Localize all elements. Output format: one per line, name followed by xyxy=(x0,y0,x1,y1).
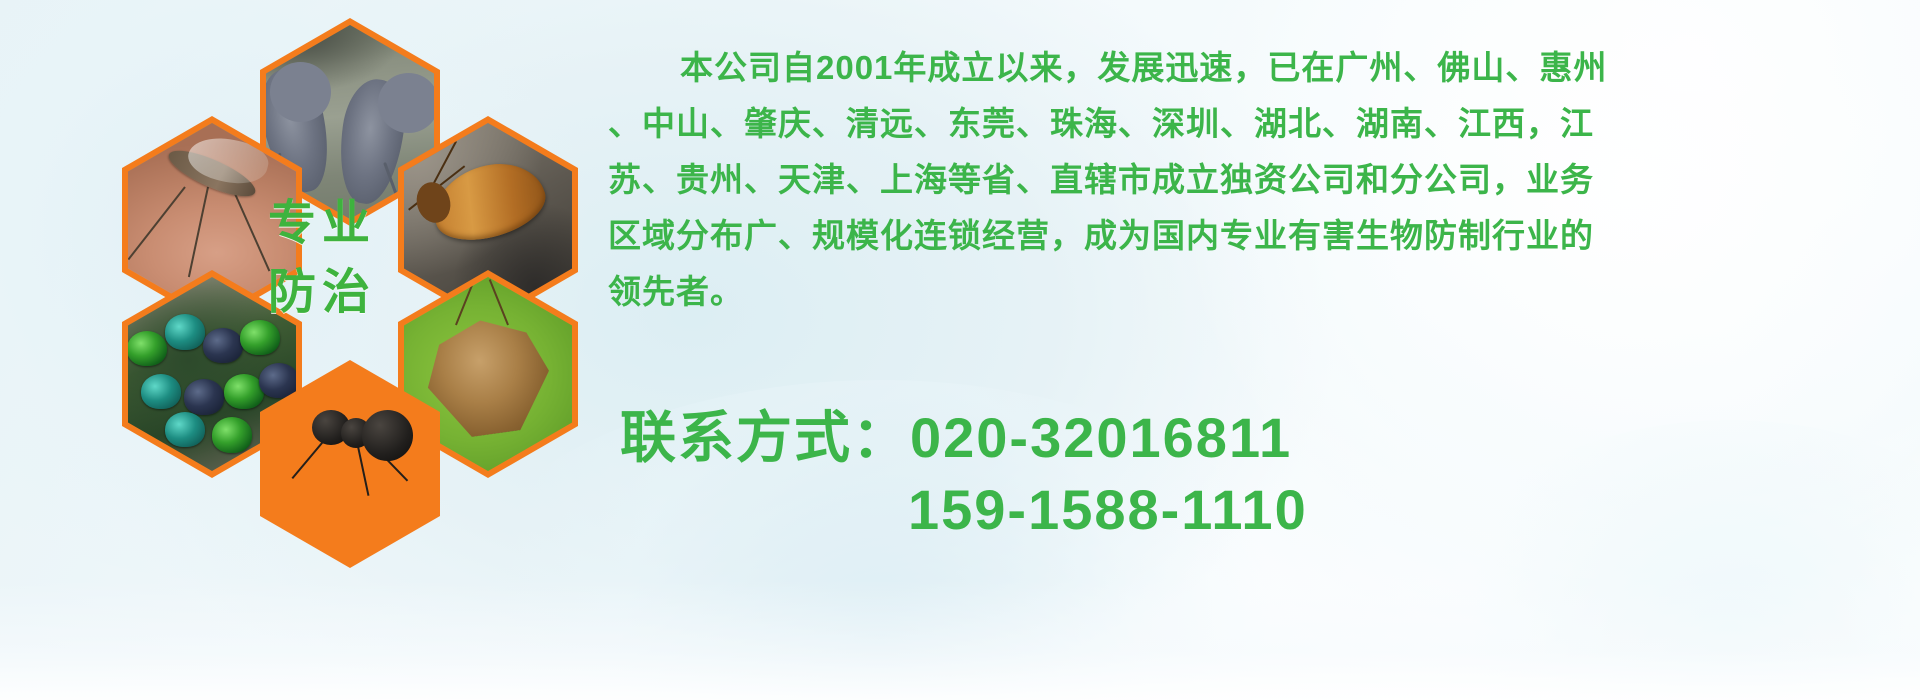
hex-photo-ant xyxy=(260,360,440,568)
description-line-4: 区域分布广、规模化连锁经营，成为国内专业有害生物防制行业的 xyxy=(608,208,1908,264)
badge-line-2: 防治 xyxy=(252,265,392,322)
contact-label: 联系方式： xyxy=(620,406,910,469)
contact-phone-2[interactable]: 159-1588-1110 xyxy=(908,478,1308,541)
contact-secondary-line: 159-1588-1110 xyxy=(620,474,1900,546)
description-line-3: 苏、贵州、天津、上海等省、直辖市成立独资公司和分公司，业务 xyxy=(608,152,1908,208)
description-line-5: 领先者。 xyxy=(608,264,1908,320)
bottom-fade-overlay xyxy=(0,580,1920,700)
company-description: 本公司自2001年成立以来，发展迅速，已在广州、佛山、惠州 、中山、肇庆、清远、… xyxy=(608,40,1908,320)
description-line-1: 本公司自2001年成立以来，发展迅速，已在广州、佛山、惠州 xyxy=(608,40,1908,96)
contact-block: 联系方式：020-32016811 159-1588-1110 xyxy=(620,402,1900,546)
badge-line-1: 专业 xyxy=(268,197,376,250)
contact-phone-1[interactable]: 020-32016811 xyxy=(910,406,1292,469)
contact-primary-line: 联系方式：020-32016811 xyxy=(620,402,1900,474)
badge-label: 专业 防治 xyxy=(252,196,392,321)
description-line-2: 、中山、肇庆、清远、东莞、珠海、深圳、湖北、湖南、江西，江 xyxy=(608,96,1908,152)
promo-banner: 专业 防治 本公司自2001年成立以来，发展迅速，已在广州、佛山、惠州 、中山、… xyxy=(0,0,1920,700)
